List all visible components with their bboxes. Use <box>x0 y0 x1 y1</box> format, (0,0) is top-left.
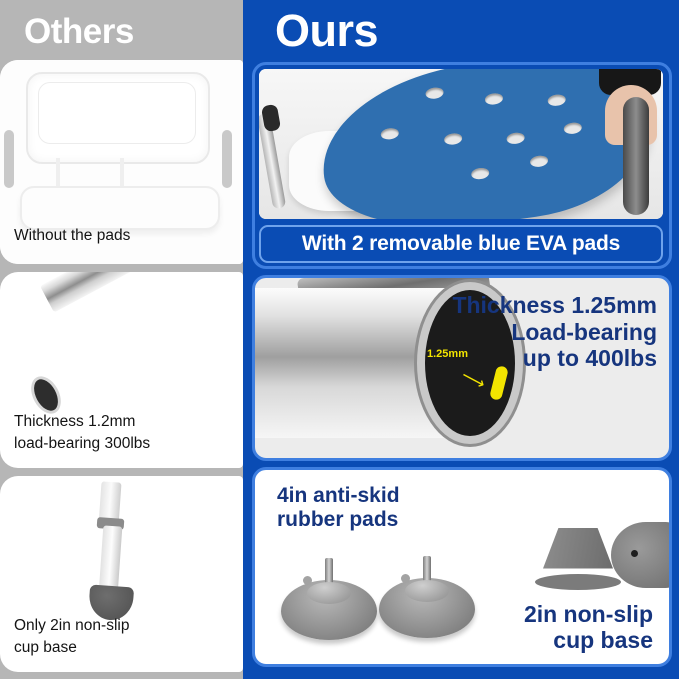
others-card-thin-tube: Thickness 1.2mm load-bearing 300lbs <box>0 272 243 468</box>
ours-card-eva-pads: With 2 removable blue EVA pads <box>252 62 672 269</box>
ours-card-2-line1: Thickness 1.25mm <box>452 292 657 319</box>
shower-chair-with-blue-eva-pad-photo <box>259 69 663 219</box>
ours-card-2-line2: Load-bearing <box>452 319 657 346</box>
comparison-infographic: Others Without the pads Thickness 1.2mm <box>0 0 679 679</box>
ours-heading: Ours <box>275 8 378 53</box>
ours-card-1-caption: With 2 removable blue EVA pads <box>259 225 663 263</box>
others-card-2-caption-line2: load-bearing 300lbs <box>14 434 150 453</box>
ours-card-rubber-pads: 4in anti-skid rubber pads 2in non-slip c… <box>252 467 672 667</box>
ours-card-3-right-line1: 2in non-slip <box>524 601 653 628</box>
ours-card-3-right-label: 2in non-slip cup base <box>524 601 653 654</box>
others-card-2-caption-line1: Thickness 1.2mm <box>14 412 135 431</box>
others-card-cup-base: Only 2in non-slip cup base <box>0 476 243 672</box>
others-card-without-pads: Without the pads <box>0 60 243 264</box>
ours-card-thick-tube: 1.25mm ⟶ Thickness 1.25mm Load-bearing u… <box>252 275 672 461</box>
others-card-1-caption: Without the pads <box>14 226 130 245</box>
others-card-3-caption-line1: Only 2in non-slip <box>14 616 129 635</box>
ours-column: Ours <box>243 0 679 679</box>
ours-card-2-line3: up to 400lbs <box>452 345 657 372</box>
others-column: Others Without the pads Thickness 1.2mm <box>0 0 243 679</box>
others-card-3-caption-line2: cup base <box>14 638 77 657</box>
ours-card-3-right-line2: cup base <box>524 627 653 654</box>
ours-card-2-text: Thickness 1.25mm Load-bearing up to 400l… <box>452 292 657 372</box>
others-heading: Others <box>24 14 134 49</box>
